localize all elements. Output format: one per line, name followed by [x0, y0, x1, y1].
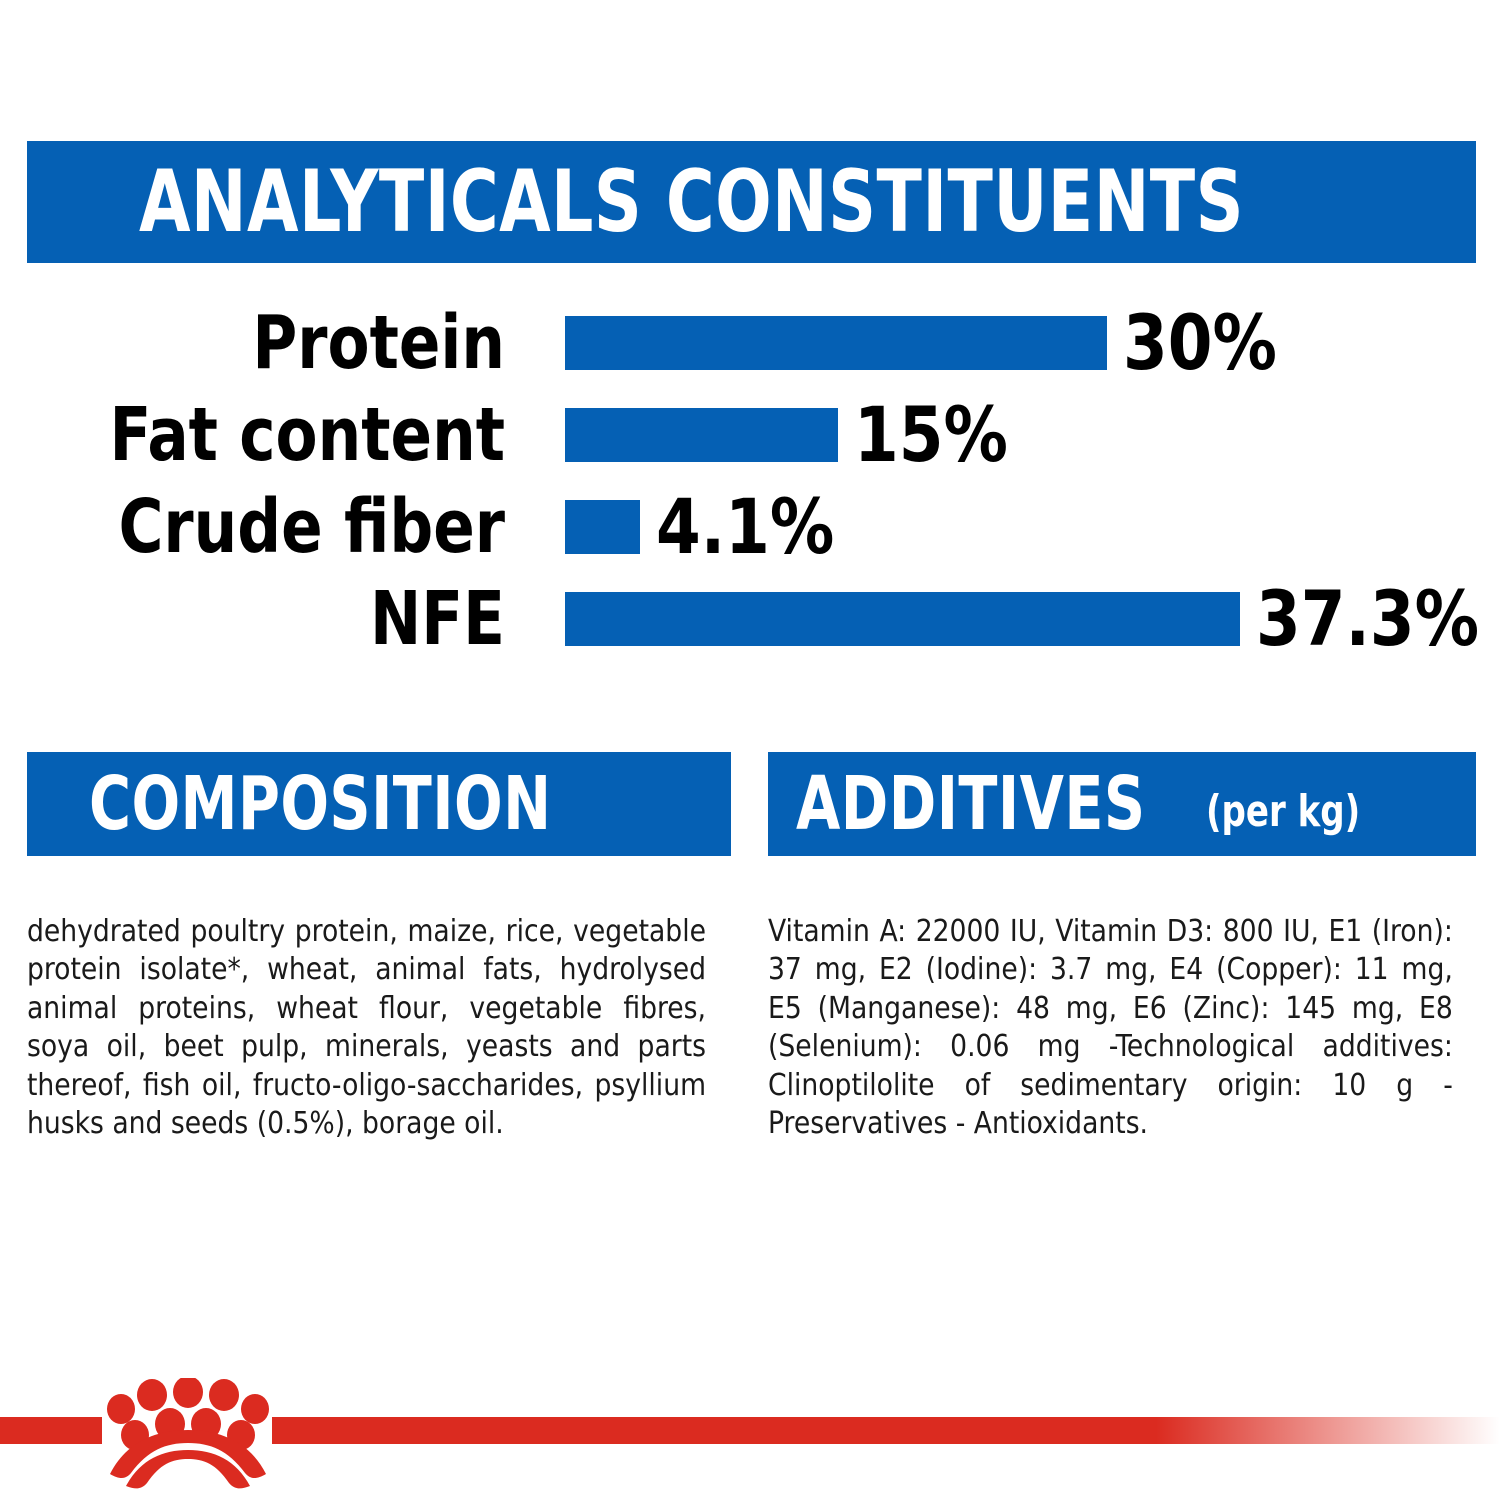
- additives-per-kg-label: (per kg): [1206, 790, 1360, 834]
- bar-fill: [565, 500, 640, 554]
- footer-rule-right: [272, 1417, 1500, 1444]
- bar-label: Crude fiber: [40, 484, 505, 570]
- additives-header: ADDITIVES (per kg): [768, 752, 1476, 856]
- analyticals-constituents-header: ANALYTICALS CONSTITUENTS: [27, 141, 1476, 263]
- additives-body-text: Vitamin A: 22000 IU, Vitamin D3: 800 IU,…: [768, 913, 1453, 1144]
- brand-footer: [0, 1400, 1500, 1500]
- nutrition-panel: ANALYTICALS CONSTITUENTS Protein30%Fat c…: [0, 0, 1500, 1500]
- bar-row: Crude fiber4.1%: [0, 484, 1500, 570]
- bar-value-label: 30%: [1123, 300, 1277, 386]
- bar-value-label: 4.1%: [656, 484, 834, 570]
- bar-fill: [565, 316, 1107, 370]
- bar-row: NFE37.3%: [0, 576, 1500, 662]
- additives-title: ADDITIVES: [796, 767, 1146, 841]
- bar-fill: [565, 408, 838, 462]
- composition-header: COMPOSITION: [27, 752, 731, 856]
- footer-rule-left: [0, 1417, 102, 1444]
- bar-fill: [565, 592, 1240, 646]
- bar-label: Fat content: [40, 392, 505, 478]
- bar-value-label: 37.3%: [1256, 576, 1479, 662]
- composition-title: COMPOSITION: [89, 767, 551, 841]
- royal-canin-crown-icon: [104, 1378, 272, 1490]
- bar-track: [565, 592, 1240, 646]
- analyticals-bar-chart: Protein30%Fat content15%Crude fiber4.1%N…: [0, 300, 1500, 670]
- bar-label: NFE: [40, 576, 505, 662]
- analyticals-constituents-title: ANALYTICALS CONSTITUENTS: [139, 159, 1244, 245]
- bar-track: [565, 408, 838, 462]
- composition-body-text: dehydrated poultry protein, maize, rice,…: [27, 913, 706, 1144]
- bar-track: [565, 500, 640, 554]
- bar-label: Protein: [40, 300, 505, 386]
- bar-row: Protein30%: [0, 300, 1500, 386]
- bar-row: Fat content15%: [0, 392, 1500, 478]
- bar-value-label: 15%: [854, 392, 1008, 478]
- bar-track: [565, 316, 1107, 370]
